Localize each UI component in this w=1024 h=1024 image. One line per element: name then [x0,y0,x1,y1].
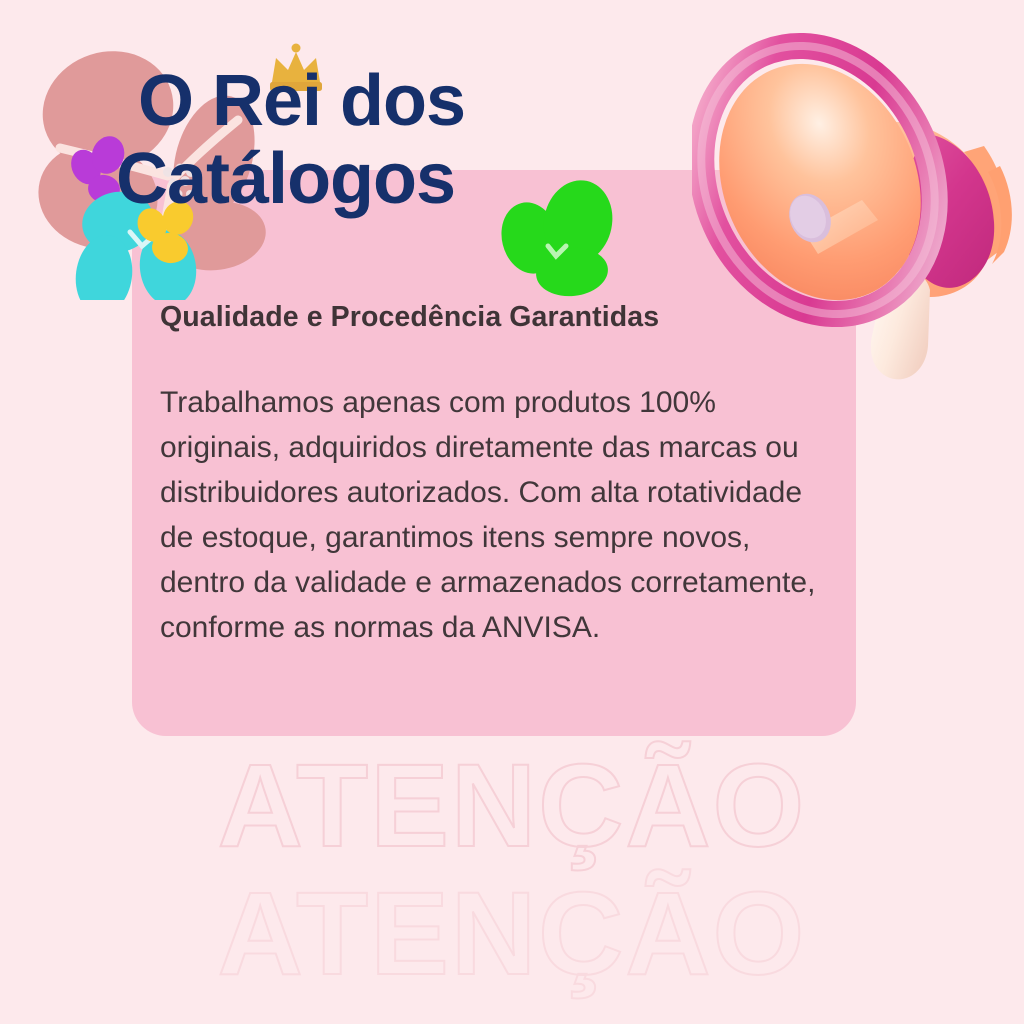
brand-line-1: O Rei dos [138,62,465,140]
brand-wordmark: O Rei dos Catálogos [138,62,465,218]
watermark-atencao-top: ATENÇÃO [0,738,1024,874]
content-card-text: Qualidade e Procedência Garantidas Traba… [160,300,840,650]
card-body-text: Trabalhamos apenas com produtos 100% ori… [160,380,832,650]
brand-line-2: Catálogos [116,140,465,218]
poster-canvas: ATENÇÃO ATENÇÃO Qualidade e Procedência … [0,0,1024,1024]
watermark-atencao-bottom: ATENÇÃO [0,866,1024,1002]
card-heading: Qualidade e Procedência Garantidas [160,300,840,334]
green-butterfly-icon [494,174,620,300]
brand-logo: O Rei dos Catálogos [0,0,660,300]
